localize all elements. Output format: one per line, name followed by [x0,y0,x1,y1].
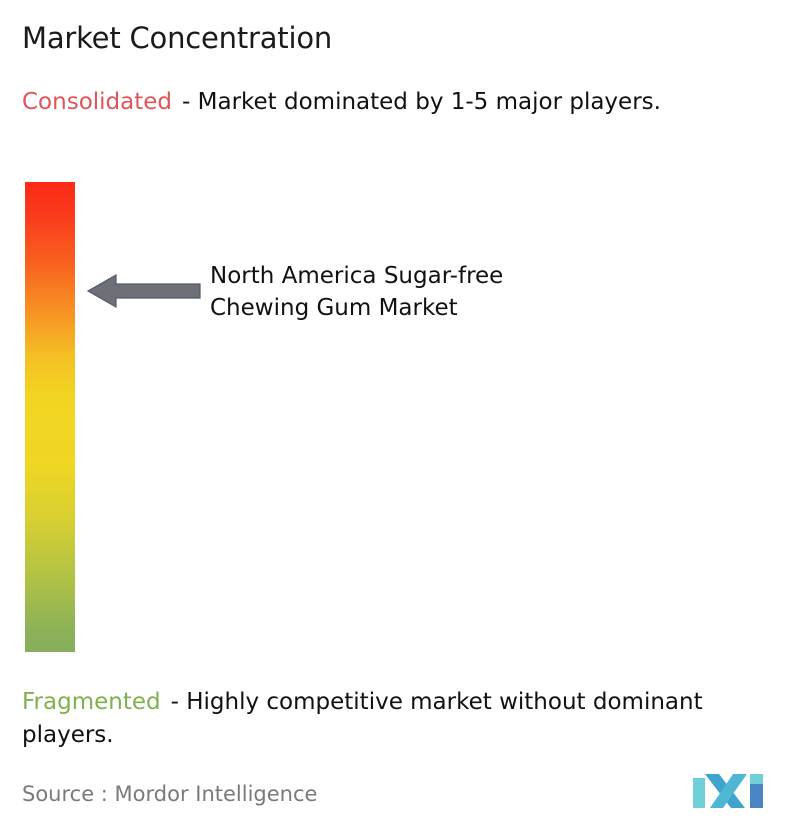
left-arrow-icon [86,272,202,310]
legend-description-consolidated: - Market dominated by 1-5 major players. [182,89,661,115]
legend-term-fragmented: Fragmented [22,689,161,715]
legend-consolidated: Consolidated- Market dominated by 1-5 ma… [22,86,772,119]
market-label-line1: North America Sugar-free [210,260,640,292]
concentration-gradient-bar [25,182,75,652]
logo-mark-icon [693,768,769,814]
mordor-intelligence-logo-icon [693,768,769,814]
market-label-line2: Chewing Gum Market [210,292,640,324]
market-pointer-arrow [86,272,202,310]
market-label: North America Sugar-free Chewing Gum Mar… [210,260,640,324]
chart-canvas: Market Concentration Consolidated- Marke… [0,0,796,834]
legend-term-consolidated: Consolidated [22,89,172,115]
page-title: Market Concentration [22,20,332,56]
source-attribution: Source : Mordor Intelligence [22,780,317,808]
legend-fragmented: Fragmented- Highly competitive market wi… [22,686,792,752]
